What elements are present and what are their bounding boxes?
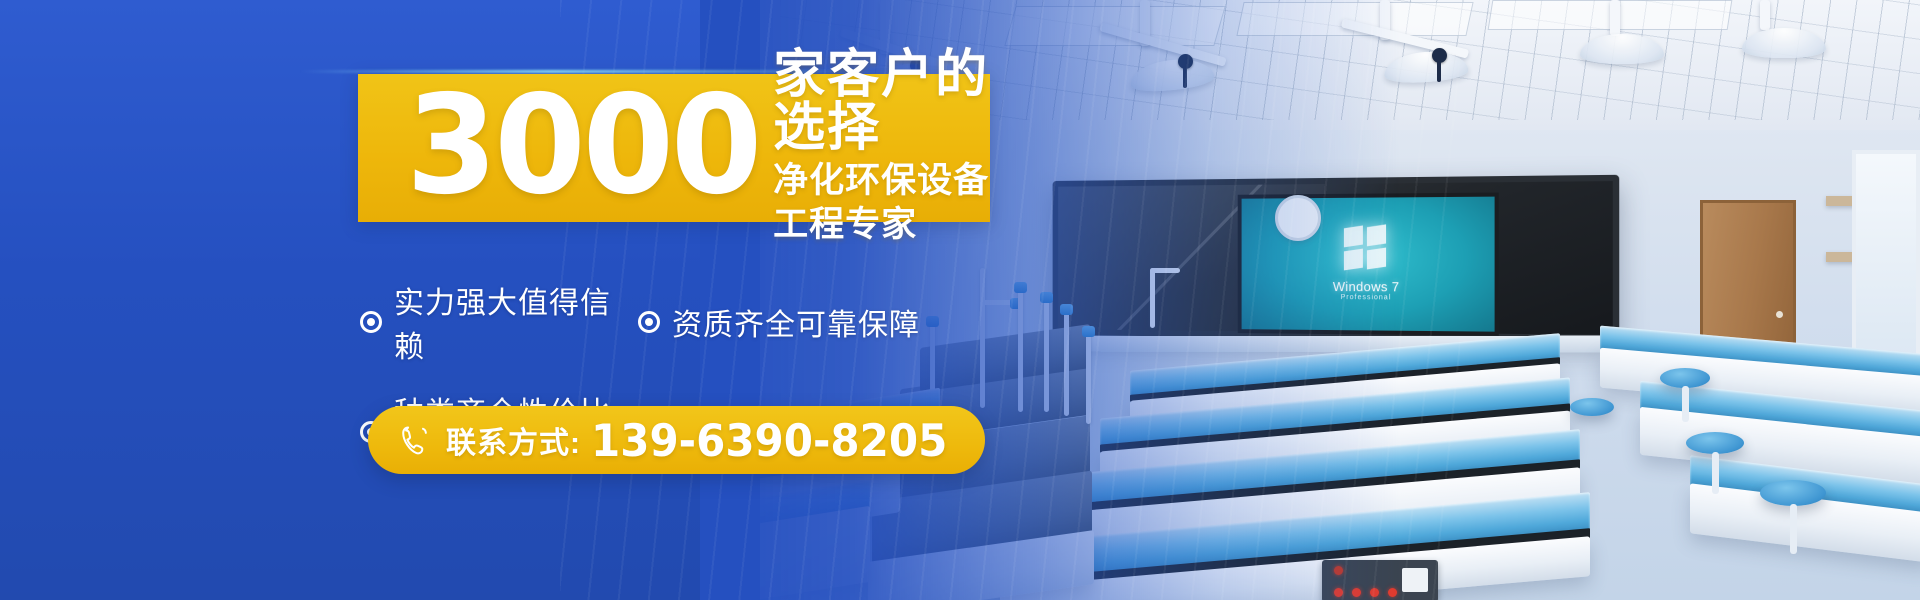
- promo-banner: Windows 7 Professional: [0, 0, 1920, 600]
- customer-count: 3000: [406, 87, 759, 204]
- contact-phone-number: 139-6390-8205: [591, 414, 947, 466]
- stool-leg: [1682, 386, 1689, 422]
- feature-label: 资质齐全可靠保障: [672, 300, 920, 344]
- phone-icon: [398, 423, 432, 457]
- fume-arm: [1610, 0, 1620, 36]
- contact-button[interactable]: 联系方式: 139-6390-8205: [368, 406, 985, 474]
- lab-stool: [1760, 480, 1826, 506]
- lab-stool: [1660, 368, 1710, 388]
- headline-line-1: 家客户的选择: [773, 49, 990, 155]
- lab-stool: [1570, 398, 1614, 416]
- circle-dot-icon: [360, 311, 382, 333]
- stool-leg: [1790, 504, 1797, 554]
- feature-label: 实力强大值得信赖: [394, 278, 638, 366]
- contact-label: 联系方式:: [446, 418, 581, 462]
- fume-knob: [1432, 48, 1447, 63]
- headline-text-group: 家客户的选择 净化环保设备工程专家: [773, 49, 990, 247]
- lab-stool: [1686, 432, 1744, 454]
- headline-line-2: 净化环保设备工程专家: [773, 159, 990, 247]
- power-socket: [1402, 568, 1428, 592]
- stool-leg: [1712, 452, 1719, 494]
- feature-item-strength: 实力强大值得信赖: [360, 278, 638, 366]
- headline-box: 3000 家客户的选择 净化环保设备工程专家: [358, 74, 990, 222]
- fume-arm: [1760, 0, 1770, 30]
- feature-row: 实力强大值得信赖 资质齐全可靠保障: [360, 278, 980, 366]
- circle-dot-icon: [638, 311, 660, 333]
- banner-content: 3000 家客户的选择 净化环保设备工程专家 实力强大值得信赖 资质齐全可靠保障: [0, 0, 1100, 600]
- feature-item-qualification: 资质齐全可靠保障: [638, 278, 920, 366]
